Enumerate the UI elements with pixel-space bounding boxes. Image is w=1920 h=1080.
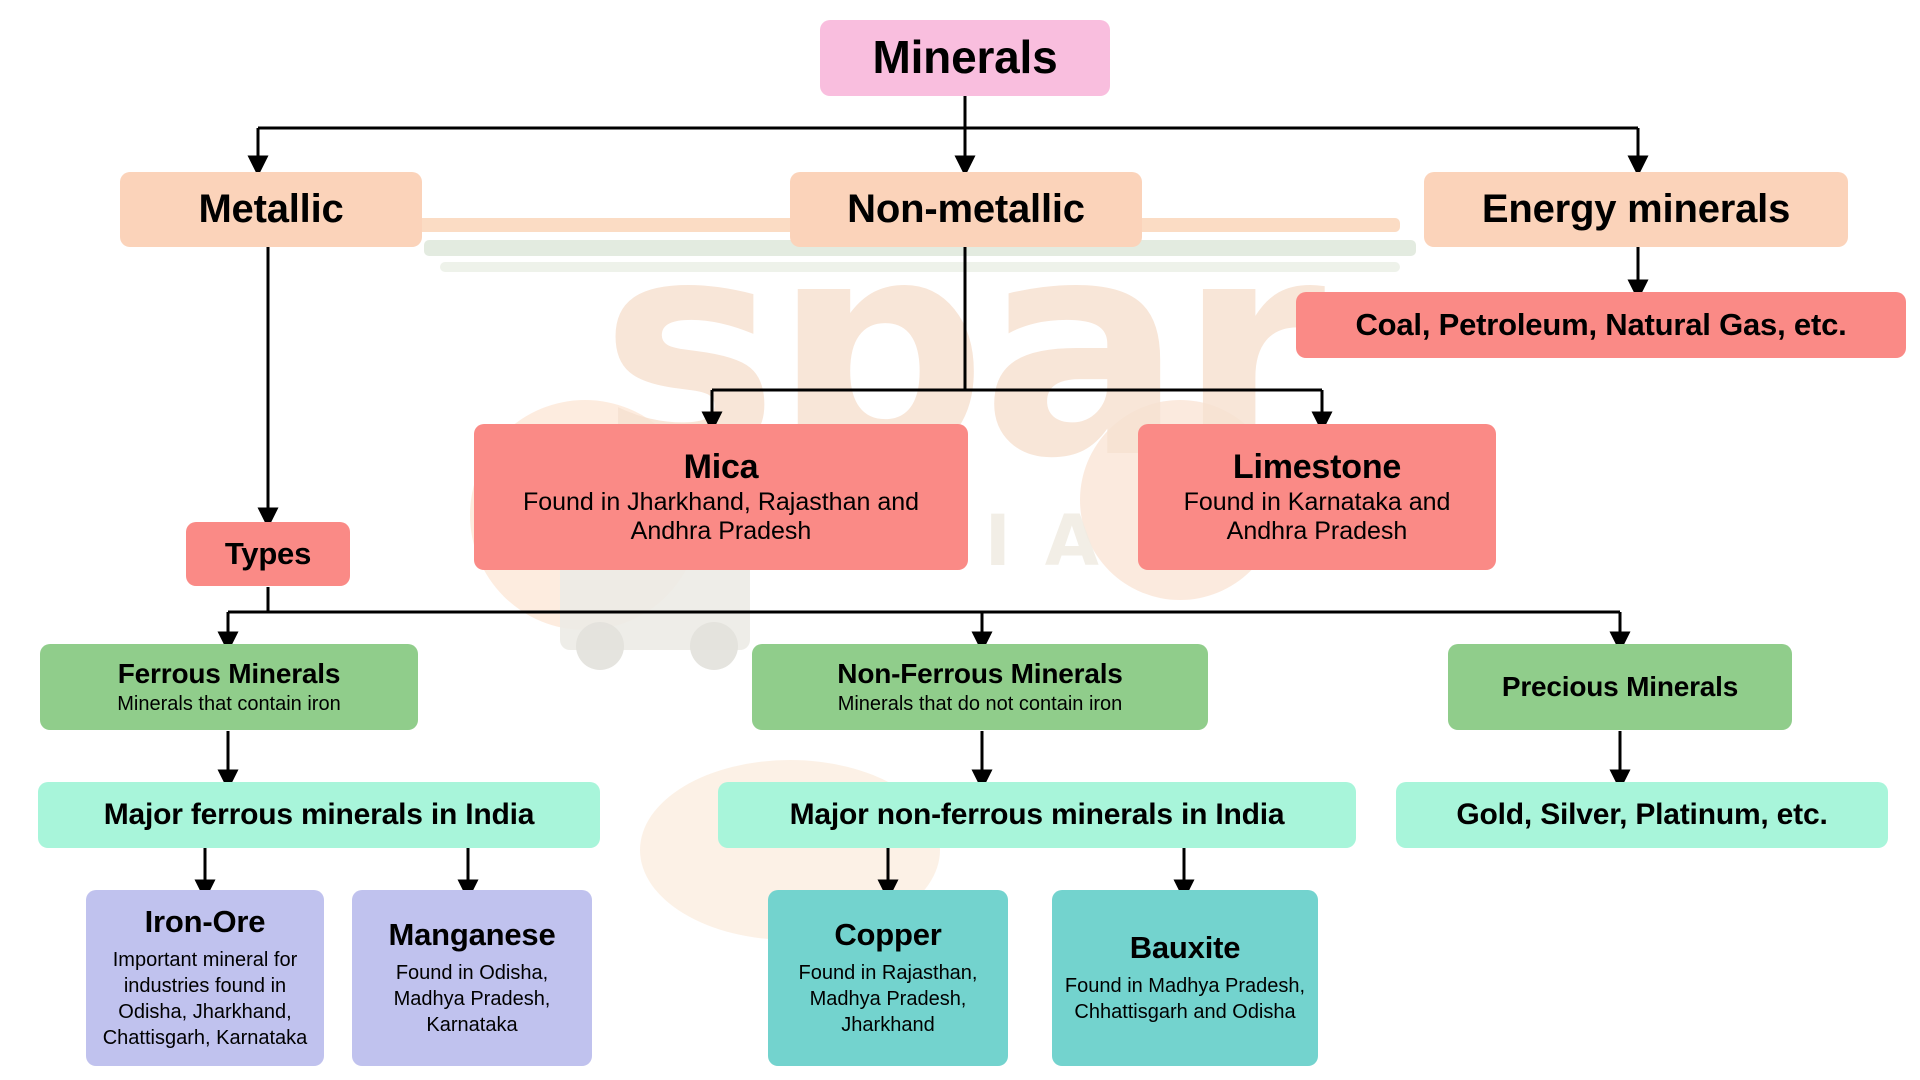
- node-iron-ore-desc: Important mineral for industries found i…: [96, 947, 314, 1051]
- node-copper-title: Copper: [834, 918, 941, 953]
- node-manganese[interactable]: Manganese Found in Odisha, Madhya Prades…: [352, 890, 592, 1066]
- node-energy-minerals-title: Energy minerals: [1482, 187, 1790, 232]
- node-manganese-desc: Found in Odisha, Madhya Pradesh, Karnata…: [362, 960, 582, 1038]
- node-types[interactable]: Types: [186, 522, 350, 586]
- node-energy-minerals[interactable]: Energy minerals: [1424, 172, 1848, 247]
- node-precious-examples-title: Gold, Silver, Platinum, etc.: [1456, 798, 1827, 832]
- node-major-non-ferrous-minerals-india[interactable]: Major non-ferrous minerals in India: [718, 782, 1356, 848]
- node-limestone-desc: Found in Karnataka and Andhra Pradesh: [1148, 488, 1486, 546]
- node-major-ferrous-minerals-india-title: Major ferrous minerals in India: [104, 798, 535, 832]
- node-bauxite[interactable]: Bauxite Found in Madhya Pradesh, Chhatti…: [1052, 890, 1318, 1066]
- node-major-ferrous-minerals-india[interactable]: Major ferrous minerals in India: [38, 782, 600, 848]
- node-non-metallic[interactable]: Non-metallic: [790, 172, 1142, 247]
- node-precious-minerals[interactable]: Precious Minerals: [1448, 644, 1792, 730]
- watermark-truck-icon: [576, 622, 624, 670]
- node-copper[interactable]: Copper Found in Rajasthan, Madhya Prades…: [768, 890, 1008, 1066]
- node-precious-minerals-title: Precious Minerals: [1502, 671, 1738, 702]
- node-manganese-title: Manganese: [388, 918, 555, 953]
- node-metallic[interactable]: Metallic: [120, 172, 422, 247]
- node-mica-title: Mica: [684, 448, 759, 486]
- node-energy-examples-title: Coal, Petroleum, Natural Gas, etc.: [1355, 308, 1846, 343]
- watermark-bar: [440, 262, 1400, 272]
- node-energy-examples[interactable]: Coal, Petroleum, Natural Gas, etc.: [1296, 292, 1906, 358]
- node-iron-ore[interactable]: Iron-Ore Important mineral for industrie…: [86, 890, 324, 1066]
- node-mica[interactable]: Mica Found in Jharkhand, Rajasthan and A…: [474, 424, 968, 570]
- flowchart-canvas: spar INDIA: [0, 0, 1920, 1080]
- node-non-ferrous-minerals-title: Non-Ferrous Minerals: [837, 658, 1122, 689]
- node-mica-desc: Found in Jharkhand, Rajasthan and Andhra…: [484, 488, 958, 546]
- node-bauxite-title: Bauxite: [1130, 931, 1241, 966]
- node-types-title: Types: [225, 537, 311, 572]
- node-non-ferrous-minerals-desc: Minerals that do not contain iron: [838, 692, 1123, 716]
- node-bauxite-desc: Found in Madhya Pradesh, Chhattisgarh an…: [1062, 973, 1308, 1025]
- node-non-metallic-title: Non-metallic: [847, 187, 1085, 232]
- node-minerals[interactable]: Minerals: [820, 20, 1110, 96]
- node-ferrous-minerals-desc: Minerals that contain iron: [117, 692, 340, 716]
- node-major-non-ferrous-minerals-india-title: Major non-ferrous minerals in India: [790, 798, 1285, 832]
- node-precious-examples[interactable]: Gold, Silver, Platinum, etc.: [1396, 782, 1888, 848]
- node-metallic-title: Metallic: [198, 187, 343, 232]
- node-non-ferrous-minerals[interactable]: Non-Ferrous Minerals Minerals that do no…: [752, 644, 1208, 730]
- node-limestone-title: Limestone: [1233, 448, 1401, 486]
- node-minerals-title: Minerals: [872, 32, 1057, 84]
- node-copper-desc: Found in Rajasthan, Madhya Pradesh, Jhar…: [778, 960, 998, 1038]
- node-ferrous-minerals-title: Ferrous Minerals: [118, 658, 340, 689]
- node-limestone[interactable]: Limestone Found in Karnataka and Andhra …: [1138, 424, 1496, 570]
- node-iron-ore-title: Iron-Ore: [145, 905, 266, 940]
- watermark-truck-icon: [560, 560, 750, 650]
- watermark-truck-icon: [690, 622, 738, 670]
- node-ferrous-minerals[interactable]: Ferrous Minerals Minerals that contain i…: [40, 644, 418, 730]
